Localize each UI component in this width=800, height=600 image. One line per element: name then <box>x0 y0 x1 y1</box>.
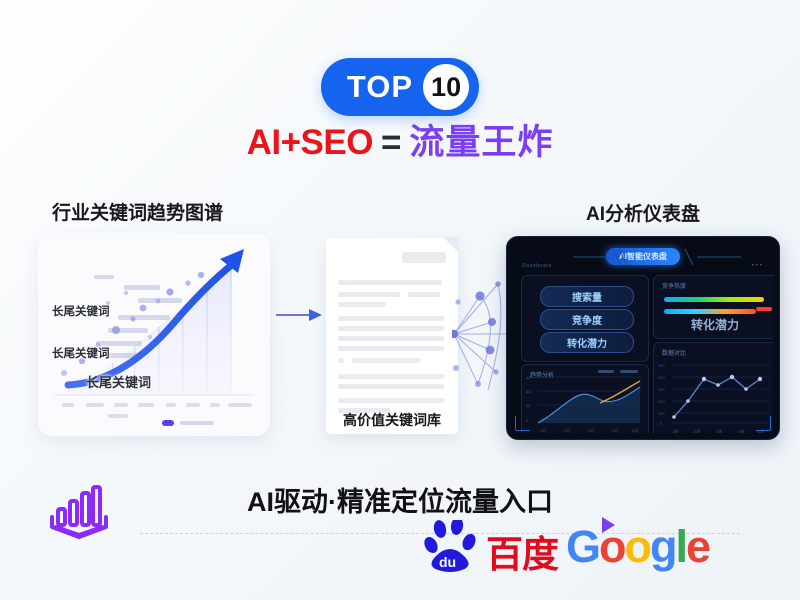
heat-gradient-bar-1 <box>664 297 764 302</box>
heat-gradient-bar-2 <box>664 309 756 314</box>
doc-header-chip <box>402 252 446 263</box>
area-chart-panel: 4030 200 1月2月 3月4月 5月 趋势分析 <box>521 364 649 433</box>
top-badge-number: 10 <box>423 64 469 110</box>
document-sheet <box>326 238 458 434</box>
doc-placeholder-line <box>338 358 344 363</box>
doc-placeholder-line <box>338 292 400 297</box>
svg-text:1周: 1周 <box>672 428 678 433</box>
doc-placeholder-line <box>338 280 442 285</box>
svg-text:4月: 4月 <box>612 428 618 433</box>
headline-left: AI+SEO <box>247 123 373 162</box>
top-badge-label: TOP <box>347 71 413 104</box>
svg-text:2月: 2月 <box>564 428 570 433</box>
google-letter-G: G <box>566 521 599 572</box>
top-badge: TOP 10 <box>321 58 479 116</box>
doc-placeholder-line <box>338 316 444 321</box>
svg-text:2周: 2周 <box>694 428 700 433</box>
metric-button-conversion-potential[interactable]: 转化潜力 <box>540 332 634 353</box>
svg-text:3周: 3周 <box>716 428 722 433</box>
keyword-library-caption: 高价值关键词库 <box>326 410 458 430</box>
baidu-du-text: du <box>439 554 456 570</box>
corner-bracket-icon <box>756 416 771 431</box>
keyword-library-card: 高价值关键词库 <box>326 238 458 434</box>
trend-chart-svg <box>38 233 270 436</box>
google-logo: Google <box>566 524 709 569</box>
doc-placeholder-line <box>338 374 444 379</box>
svg-text:30: 30 <box>526 389 531 394</box>
heat-panel-overlay-label: 转化潜力 <box>654 316 773 333</box>
trend-keyword-label-3: 长尾关键词 <box>86 372 151 391</box>
heat-threshold-marker <box>756 307 772 311</box>
doc-placeholder-line <box>338 302 386 307</box>
bar-chart-icon <box>48 483 110 548</box>
page-fold-icon <box>443 237 459 253</box>
search-engine-logos: du 百度 Google <box>424 520 709 572</box>
svg-text:400: 400 <box>658 375 665 380</box>
svg-text:200: 200 <box>658 399 665 404</box>
trend-keyword-label-2: 长尾关键词 <box>52 345 110 361</box>
doc-placeholder-line <box>338 384 444 389</box>
headline-right: 流量王炸 <box>409 123 553 162</box>
doc-placeholder-line <box>338 336 444 341</box>
google-letter-g: g <box>650 521 676 572</box>
node-network-icon <box>452 272 514 399</box>
doc-placeholder-line <box>338 398 444 403</box>
metric-button-search-volume[interactable]: 搜索量 <box>540 286 634 307</box>
baidu-logo: du 百度 <box>424 520 558 572</box>
doc-placeholder-line <box>408 292 440 297</box>
competition-heat-panel: 竞争热度 转化潜力 <box>653 275 773 339</box>
svg-text:3月: 3月 <box>588 428 594 433</box>
left-section-caption: 行业关键词趋势图谱 <box>52 198 223 225</box>
line-panel-title: 数据对比 <box>662 348 686 357</box>
right-section-caption: AI分析仪表盘 <box>586 199 700 226</box>
google-letter-o2: o <box>625 521 651 572</box>
corner-bracket-icon <box>515 416 530 431</box>
ai-dashboard-card: AI智能仪表盘 Dashboard ••• 搜索量 竞争度 转化潜力 <box>506 236 780 440</box>
headline-equals: = <box>381 123 401 162</box>
area-panel-title: 趋势分析 <box>530 370 554 379</box>
svg-text:100: 100 <box>658 411 665 416</box>
slide-canvas: TOP 10 AI+SEO=流量王炸 行业关键词趋势图谱 AI分析仪表盘 <box>0 0 800 600</box>
doc-placeholder-line <box>338 346 444 351</box>
dashboard-header-decor <box>513 243 773 273</box>
google-letter-e: e <box>686 521 709 572</box>
trend-keyword-label-1: 长尾关键词 <box>52 303 110 319</box>
baidu-paw-icon: du <box>424 520 486 572</box>
metric-button-competition[interactable]: 竞争度 <box>540 309 634 330</box>
svg-text:4周: 4周 <box>738 428 744 433</box>
line-chart-panel: 数据对比 <box>653 342 773 433</box>
headline: AI+SEO=流量王炸 <box>0 124 800 163</box>
svg-text:300: 300 <box>658 387 665 392</box>
top-badge-container: TOP 10 <box>0 58 800 116</box>
flow-arrow-icon <box>276 307 324 328</box>
metric-buttons-panel: 搜索量 竞争度 转化潜力 <box>521 275 649 362</box>
doc-placeholder-line <box>338 326 444 331</box>
trend-legend <box>162 420 214 426</box>
footer-tagline: AI驱动·精准定位流量入口 <box>0 480 800 519</box>
play-arrow-icon <box>602 517 615 533</box>
doc-placeholder-line <box>352 358 420 363</box>
heat-panel-title: 竞争热度 <box>662 281 686 290</box>
dashboard-screen: AI智能仪表盘 Dashboard ••• 搜索量 竞争度 转化潜力 <box>513 243 773 433</box>
svg-text:1月: 1月 <box>540 428 546 433</box>
svg-text:0: 0 <box>660 421 663 426</box>
google-letter-l: l <box>676 521 687 572</box>
svg-text:5月: 5月 <box>632 428 638 433</box>
svg-text:500: 500 <box>658 363 665 368</box>
baidu-chinese-text: 百度 <box>486 537 558 572</box>
trend-chart-card: 长尾关键词 长尾关键词 长尾关键词 <box>38 233 270 436</box>
trend-axis-ticks <box>62 403 252 418</box>
svg-text:20: 20 <box>526 403 531 408</box>
